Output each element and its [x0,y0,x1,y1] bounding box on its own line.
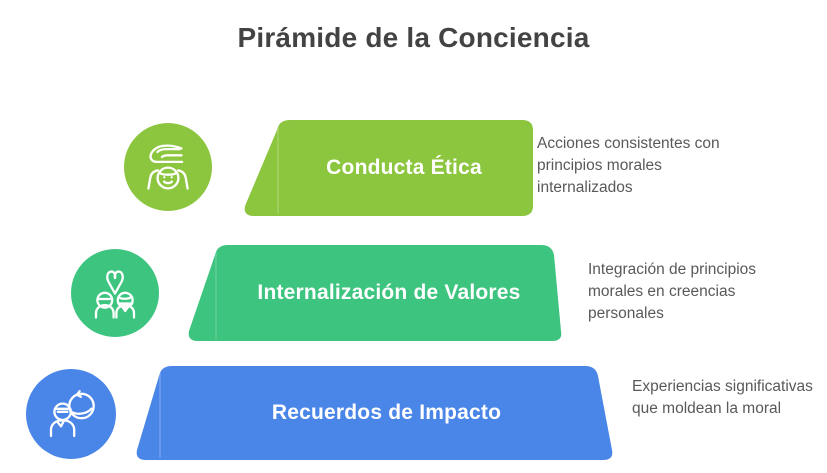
tier-2-trapezoid-shape [187,245,563,341]
tier-3-description: Experiencias significativas que moldean … [632,376,822,420]
pyramid-tier-row-1: Conducta Ética Acciones consistentes con… [0,120,827,220]
pyramid-infographic: Pirámide de la Conciencia [0,0,827,473]
page-title: Pirámide de la Conciencia [0,22,827,54]
tier-2-description: Integración de principios morales en cre… [588,259,793,325]
tier-2-icon-badge [71,249,159,337]
pyramid-tier-row-3: Recuerdos de Impacto Experiencias signif… [0,366,827,466]
tier-3-icon-badge [26,369,116,459]
pyramid-tier-row-2: Internalización de Valores Integración d… [0,245,827,345]
tier-3-trapezoid-shape [135,366,614,460]
tier-1-icon-badge [124,123,212,211]
person-with-memory-recall-icon [39,382,103,446]
two-people-with-heart-icon [84,262,146,324]
protective-hand-over-child-icon [137,136,199,198]
tier-3-band[interactable]: Recuerdos de Impacto [135,366,614,460]
tier-1-description: Acciones consistentes con principios mor… [537,133,752,199]
tier-2-band[interactable]: Internalización de Valores [187,245,563,341]
tier-1-band[interactable]: Conducta Ética [243,120,533,216]
tier-1-trapezoid-shape [243,120,533,216]
